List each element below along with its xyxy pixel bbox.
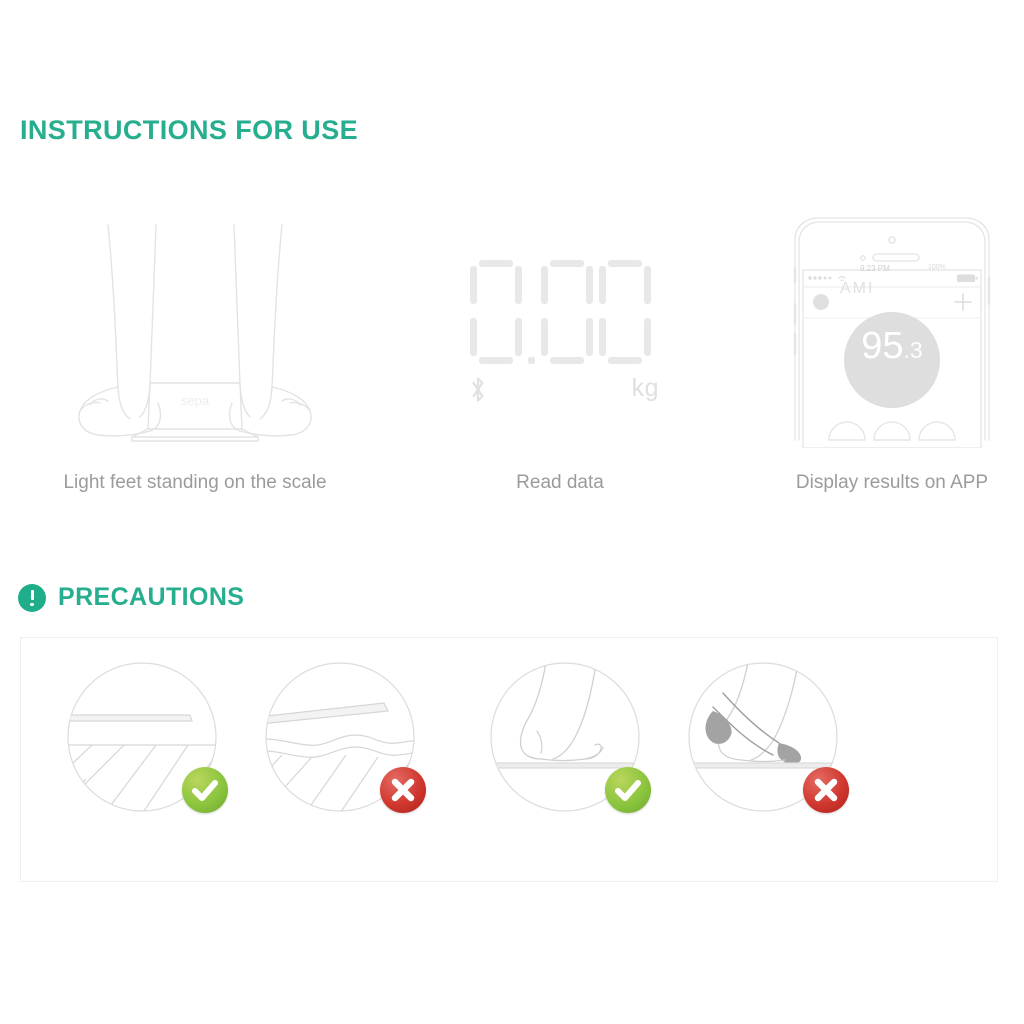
- instructions-heading: INSTRUCTIONS FOR USE: [20, 115, 358, 146]
- step-caption: Light feet standing on the scale: [30, 472, 360, 494]
- lcd-digit-0: [470, 260, 522, 364]
- instruction-sheet: INSTRUCTIONS FOR USE: [0, 0, 1024, 1024]
- cross-icon: [380, 767, 426, 813]
- weight-decimal: .3: [904, 337, 923, 363]
- lcd-unit-label: kg: [632, 374, 659, 403]
- phone-weight-reading: 95.3: [861, 325, 922, 368]
- lcd-status-row: kg: [455, 374, 665, 408]
- lcd-display-illustration: kg: [400, 200, 720, 445]
- phone-app-title: AMI: [840, 280, 874, 298]
- precaution-soft-carpet: [260, 659, 420, 819]
- check-icon: [605, 767, 651, 813]
- precautions-heading-group: PRECAUTIONS: [18, 583, 244, 612]
- bluetooth-icon: [467, 376, 489, 404]
- precautions-heading: PRECAUTIONS: [58, 583, 244, 612]
- smartphone-illustration: 9:23 PM 100% AMI 95.3: [760, 200, 1024, 445]
- legs-on-scale-illustration: sepa: [30, 200, 360, 445]
- cross-icon: [803, 767, 849, 813]
- scale-lcd: kg: [455, 260, 665, 408]
- status-badge-ok: [182, 767, 228, 813]
- step-display-results-on-app: 9:23 PM 100% AMI 95.3 Display results on…: [760, 200, 1024, 500]
- lcd-digit-1: [541, 260, 593, 364]
- lcd-digits: [455, 260, 665, 364]
- phone-status-time: 9:23 PM: [860, 264, 890, 273]
- weight-whole: 95: [861, 325, 903, 367]
- status-badge-no: [803, 767, 849, 813]
- step-caption: Read data: [400, 472, 720, 494]
- phone-status-battery: 100%: [928, 264, 946, 271]
- lcd-decimal-point: [528, 357, 535, 364]
- step-read-data: kg Read data: [400, 200, 720, 500]
- precaution-hard-floor: [62, 659, 222, 819]
- precaution-bare-foot: [485, 659, 645, 819]
- step-light-feet-standing: sepa Light feet standing on the scale: [30, 200, 360, 500]
- step-caption: Display results on APP: [760, 472, 1024, 494]
- status-badge-no: [380, 767, 426, 813]
- status-badge-ok: [605, 767, 651, 813]
- precautions-items: [20, 637, 998, 882]
- exclamation-circle-icon: [18, 584, 46, 612]
- instruction-steps: sepa Light feet standing on the scale: [0, 200, 1024, 500]
- lcd-digit-2: [599, 260, 651, 364]
- precaution-sock-foot: [683, 659, 843, 819]
- scale-brand-label: sepa: [181, 393, 210, 408]
- check-icon: [182, 767, 228, 813]
